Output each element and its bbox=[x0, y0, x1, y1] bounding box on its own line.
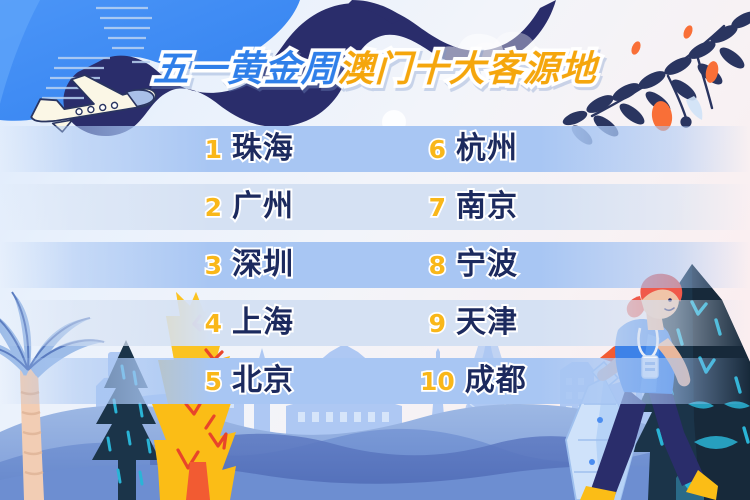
city-name: 杭州 bbox=[456, 134, 518, 164]
rank-number: 9 bbox=[420, 311, 446, 336]
list-item[interactable]: 5 北京 bbox=[196, 358, 294, 404]
city-name: 宁波 bbox=[456, 250, 518, 280]
city-name: 珠海 bbox=[232, 134, 294, 164]
list-item[interactable]: 10 成都 bbox=[420, 358, 527, 404]
rank-number: 10 bbox=[420, 369, 455, 394]
list-item[interactable]: 9 天津 bbox=[420, 300, 518, 346]
ranking-row: 2 广州 7 南京 bbox=[0, 184, 750, 230]
rank-number: 7 bbox=[420, 195, 446, 220]
city-name: 天津 bbox=[456, 308, 518, 338]
rank-number: 6 bbox=[420, 137, 446, 162]
poster-title-part-blue: 五一黄金周 bbox=[152, 49, 338, 90]
ranking-row: 3 深圳 8 宁波 bbox=[0, 242, 750, 288]
list-item[interactable]: 8 宁波 bbox=[420, 242, 518, 288]
city-name: 南京 bbox=[456, 192, 518, 222]
poster-title-part-gold: 澳门十大客源地 bbox=[337, 49, 597, 90]
city-name: 深圳 bbox=[232, 250, 294, 280]
list-item[interactable]: 4 上海 bbox=[196, 300, 294, 346]
city-name: 上海 bbox=[232, 308, 294, 338]
city-name: 北京 bbox=[232, 366, 294, 396]
poster-title-wrap: 五一黄金周澳门十大客源地 bbox=[0, 52, 750, 88]
list-item[interactable]: 1 珠海 bbox=[196, 126, 294, 172]
ranking-row: 5 北京 10 成都 bbox=[0, 358, 750, 404]
rank-number: 4 bbox=[196, 311, 222, 336]
rank-number: 5 bbox=[196, 369, 222, 394]
poster-title: 五一黄金周澳门十大客源地 bbox=[152, 52, 597, 88]
list-item[interactable]: 2 广州 bbox=[196, 184, 294, 230]
list-item[interactable]: 3 深圳 bbox=[196, 242, 294, 288]
ranking-list: 1 珠海 6 杭州 2 广州 7 南京 3 深圳 8 bbox=[0, 126, 750, 416]
rank-number: 3 bbox=[196, 253, 222, 278]
city-name: 广州 bbox=[232, 192, 294, 222]
rank-number: 2 bbox=[196, 195, 222, 220]
rank-number: 8 bbox=[420, 253, 446, 278]
ranking-row: 1 珠海 6 杭州 bbox=[0, 126, 750, 172]
rank-number: 1 bbox=[196, 137, 222, 162]
city-name: 成都 bbox=[465, 366, 527, 396]
ranking-row: 4 上海 9 天津 bbox=[0, 300, 750, 346]
list-item[interactable]: 6 杭州 bbox=[420, 126, 518, 172]
poster-canvas: 五一黄金周澳门十大客源地 1 珠海 6 杭州 2 广州 7 南京 bbox=[0, 0, 750, 500]
list-item[interactable]: 7 南京 bbox=[420, 184, 518, 230]
